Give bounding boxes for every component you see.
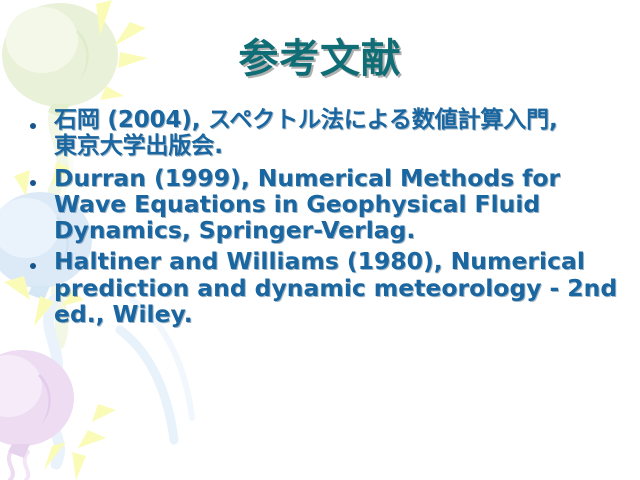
- sparkle-ray: [92, 404, 116, 422]
- title-placeholder: 参考文献: [0, 38, 640, 80]
- content-placeholder: 石岡 (2004), スペクトル法による数値計算入門, 東京大学出版会. Dur…: [30, 108, 628, 332]
- sparkle-ray: [96, 0, 112, 36]
- sparkle-ray: [78, 430, 106, 448]
- page-title: 参考文献: [238, 38, 401, 80]
- balloon-knot-purple: [8, 444, 30, 458]
- reference-text: 石岡 (2004), スペクトル法による数値計算入門, 東京大学出版会.: [54, 108, 628, 160]
- reference-line: 石岡 (2004), スペクトル法による数値計算入門,: [54, 108, 628, 134]
- balloon-purple-bottom-left: [0, 350, 74, 480]
- balloon-body-purple: [0, 350, 74, 446]
- sparkle-ray: [14, 170, 30, 196]
- sparkle-ray: [44, 442, 66, 470]
- presentation-slide: 参考文献 石岡 (2004), スペクトル法による数値計算入門, 東京大学出版会…: [0, 0, 640, 480]
- balloon-highlight-purple: [0, 355, 42, 417]
- bullet-dot-icon: [30, 165, 54, 189]
- balloon-string-purple-2: [25, 452, 29, 480]
- sparkle-ray: [4, 276, 30, 300]
- reference-line: prediction and dynamic meteorology - 2nd: [54, 275, 628, 301]
- balloon-shine-purple: [38, 374, 51, 424]
- bullet-dot-icon: [30, 108, 54, 132]
- list-item: 石岡 (2004), スペクトル法による数値計算入門, 東京大学出版会.: [30, 108, 628, 160]
- bullet-dot-icon: [30, 248, 54, 272]
- reference-line: Dynamics, Springer-Verlag.: [54, 217, 628, 243]
- reference-line: 東京大学出版会.: [54, 134, 628, 160]
- reference-line: Durran (1999), Numerical Methods for: [54, 165, 628, 191]
- reference-text: Durran (1999), Numerical Methods for Wav…: [54, 165, 628, 244]
- reference-line: Haltiner and Williams (1980), Numerical: [54, 248, 628, 274]
- reference-line: ed., Wiley.: [54, 301, 628, 327]
- sparkle-rays-bottom-left: [44, 404, 116, 480]
- sparkle-ray: [72, 452, 86, 480]
- swoosh-blue: [120, 330, 174, 440]
- sparkle-ray: [100, 86, 124, 100]
- reference-line: Wave Equations in Geophysical Fluid: [54, 191, 628, 217]
- balloon-string-purple: [9, 448, 14, 480]
- list-item: Haltiner and Williams (1980), Numerical …: [30, 248, 628, 327]
- list-item: Durran (1999), Numerical Methods for Wav…: [30, 165, 628, 244]
- reference-text: Haltiner and Williams (1980), Numerical …: [54, 248, 628, 327]
